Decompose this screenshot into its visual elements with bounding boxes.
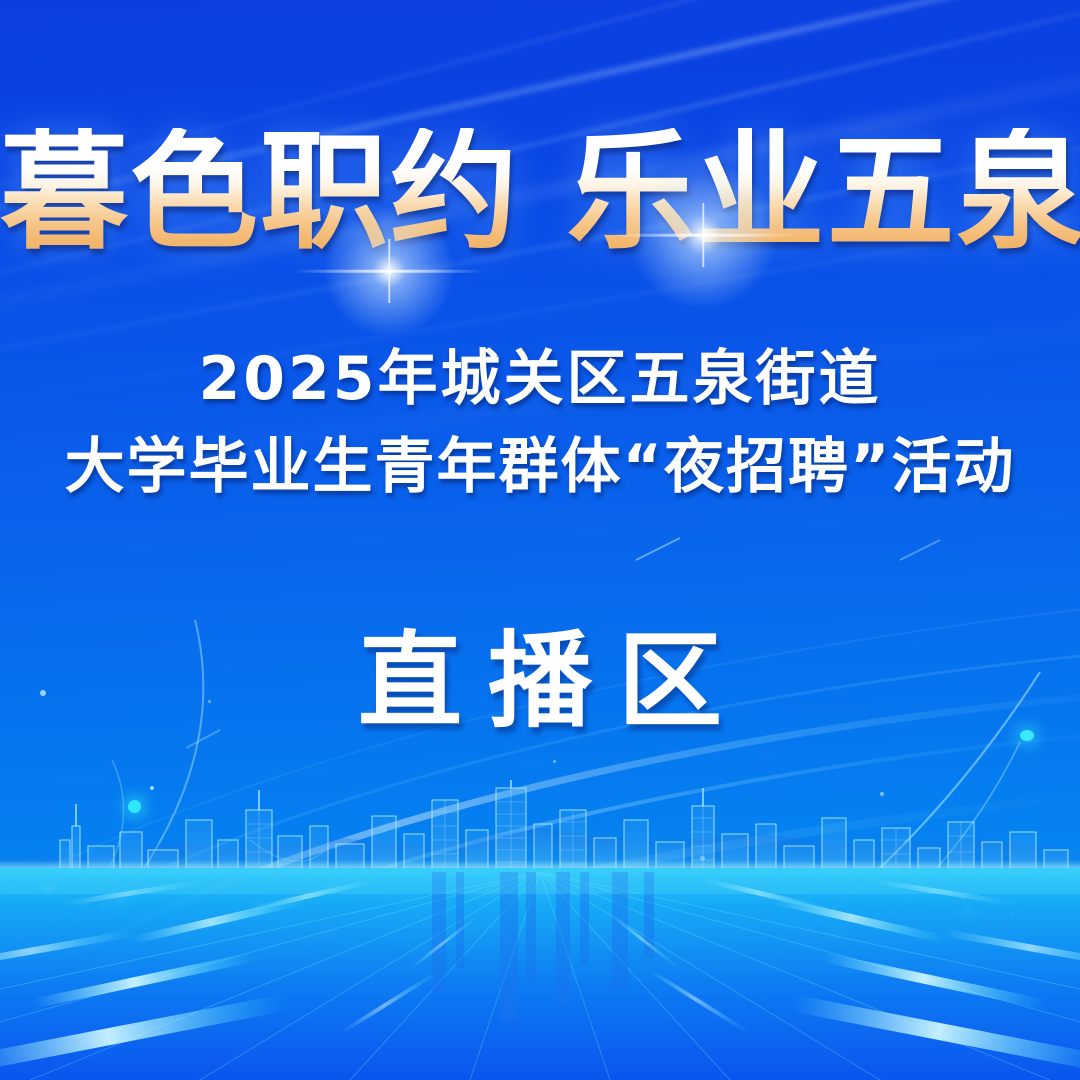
poster-subtitle-line-1: 2025年城关区五泉街道 <box>0 330 1080 417</box>
poster-content: 暮色职约 乐业五泉 2025年城关区五泉街道 大学毕业生青年群体“夜招聘”活动 … <box>0 0 1080 1080</box>
live-area-label: 直播区 <box>0 596 1080 747</box>
poster-subtitle-line-2: 大学毕业生青年群体“夜招聘”活动 <box>0 418 1080 505</box>
poster-headline: 暮色职约 乐业五泉 <box>0 128 1080 259</box>
event-poster: 暮色职约 乐业五泉 2025年城关区五泉街道 大学毕业生青年群体“夜招聘”活动 … <box>0 0 1080 1080</box>
